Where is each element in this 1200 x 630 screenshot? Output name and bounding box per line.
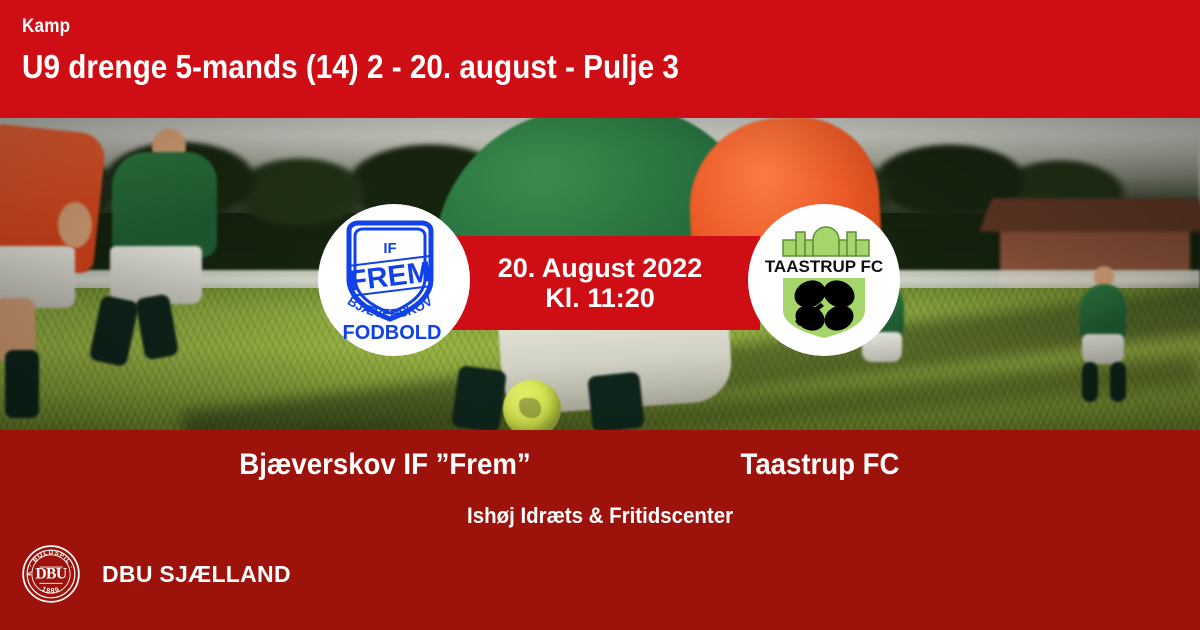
footer-org-label: DBU SJÆLLAND [102,561,291,588]
venue-label: Ishøj Idræts & Fritidscenter [467,503,733,529]
if-frem-shield-icon: IF FREM BJÆVERSKOV FODBOLD [335,217,453,343]
crest-monogram: DBU [35,566,67,583]
header-kicker: Kamp [22,17,1082,36]
away-team-name: Taastrup FC [627,448,1013,482]
header-banner: Kamp U9 drenge 5-mands (14) 2 - 20. augu… [0,0,1200,118]
match-datetime: 20. August 2022 Kl. 11:20 [440,236,760,330]
match-date: 20. August 2022 [498,253,703,283]
taastrup-fc-shield-icon: TAASTRUP FC [765,218,883,342]
match-poster: Kamp U9 drenge 5-mands (14) 2 - 20. augu… [0,0,1200,630]
away-team-logo: TAASTRUP FC [748,204,900,356]
match-time: Kl. 11:20 [545,283,655,313]
shield-text-taastrup-fc: TAASTRUP FC [765,257,883,276]
footer-brand: DANSK · BOLDSPIL · UNION 1889 DBU DBU SJ… [22,545,291,603]
dbu-crest-icon: DANSK · BOLDSPIL · UNION 1889 DBU [22,545,80,603]
page-title: U9 drenge 5-mands (14) 2 - 20. august - … [22,50,1082,85]
home-team-name: Bjæverskov IF ”Frem” [192,448,578,482]
crown-icon [783,227,869,256]
shield-text-fodbold: FODBOLD [343,322,442,343]
venue-name: Ishøj Idræts & Fritidscenter [0,503,1200,529]
team-names-row: Bjæverskov IF ”Frem” Taastrup FC [0,448,1200,482]
shield-text-if: IF [383,240,396,257]
